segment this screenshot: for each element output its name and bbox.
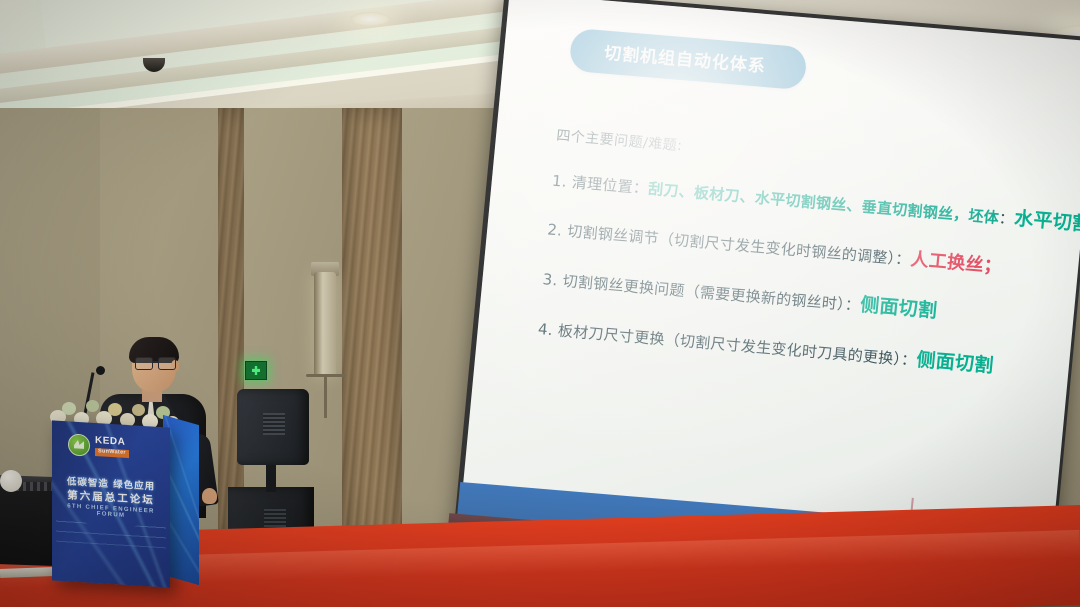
item-1-tail: ： [998, 209, 1015, 228]
item-4-emphasis: 侧面切割 [916, 349, 995, 377]
item-2-emphasis: 人工换丝； [910, 249, 1003, 278]
speaker-pole [266, 462, 276, 492]
item-3-number: 3. [542, 270, 559, 289]
item-4-number: 4. [537, 320, 554, 339]
item-1-emphasis: 水平切割钢 [1013, 207, 1080, 237]
brand-logo: KEDA SunWater [95, 436, 129, 458]
glasses-icon [134, 357, 176, 368]
item-1-green-text: 刮刀、板材刀、水平切割钢丝、垂直切割钢丝，坯体 [647, 180, 999, 227]
slide-title: 切割机组自动化体系 [569, 28, 808, 91]
item-1-label: 清理位置： [571, 173, 649, 197]
downlight-icon [350, 12, 390, 26]
brand-name: KEDA [95, 436, 129, 448]
floor-cable-cover [0, 567, 54, 578]
item-4-tail: ： [900, 350, 917, 369]
slide-surface: 切割机组自动化体系 四个主要问题/难题: 1. 清理位置：刮刀、板材刀、水平切割… [460, 0, 1080, 565]
item-3-label: 切割钢丝更换问题（需要更换新的钢丝时） [562, 272, 846, 314]
wall-sconce-stem [324, 376, 327, 418]
flower [62, 402, 76, 415]
wood-trim [218, 108, 244, 538]
flower [86, 400, 99, 412]
wall-sconce-lamp [314, 272, 336, 377]
microphone-icon [96, 366, 105, 375]
flower [132, 404, 145, 416]
item-3-emphasis: 侧面切割 [859, 294, 938, 322]
glasses-bridge [152, 361, 159, 363]
podium-front-panel: KEDA SunWater 低碳智造 绿色应用 第六届总工论坛 6TH CHIE… [52, 420, 170, 587]
pa-speaker [237, 389, 309, 465]
item-3-tail: ： [844, 296, 861, 315]
conference-photo: 切割机组自动化体系 四个主要问题/难题: 1. 清理位置：刮刀、板材刀、水平切割… [0, 0, 1080, 607]
slide-mark [911, 498, 914, 510]
av-light-globe [0, 470, 22, 492]
leaf-logo-icon [68, 433, 90, 456]
slide-body: 四个主要问题/难题: 1. 清理位置：刮刀、板材刀、水平切割钢丝、垂直切割钢丝，… [535, 125, 1080, 407]
sub-brand-name: SunWater [95, 448, 129, 458]
item-2-label: 切割钢丝调节（切割尺寸发生变化时钢丝的调整） [567, 222, 897, 267]
wood-column [342, 108, 402, 560]
item-2-number: 2. [547, 220, 564, 239]
podium-logos: KEDA SunWater [68, 433, 129, 459]
item-1-number: 1. [551, 172, 568, 191]
emergency-exit-indicator-icon [245, 361, 267, 380]
flower [108, 403, 122, 416]
hand [202, 488, 217, 504]
item-4-label: 板材刀尺寸更换（切割尺寸发生变化时刀具的更换） [557, 322, 902, 369]
